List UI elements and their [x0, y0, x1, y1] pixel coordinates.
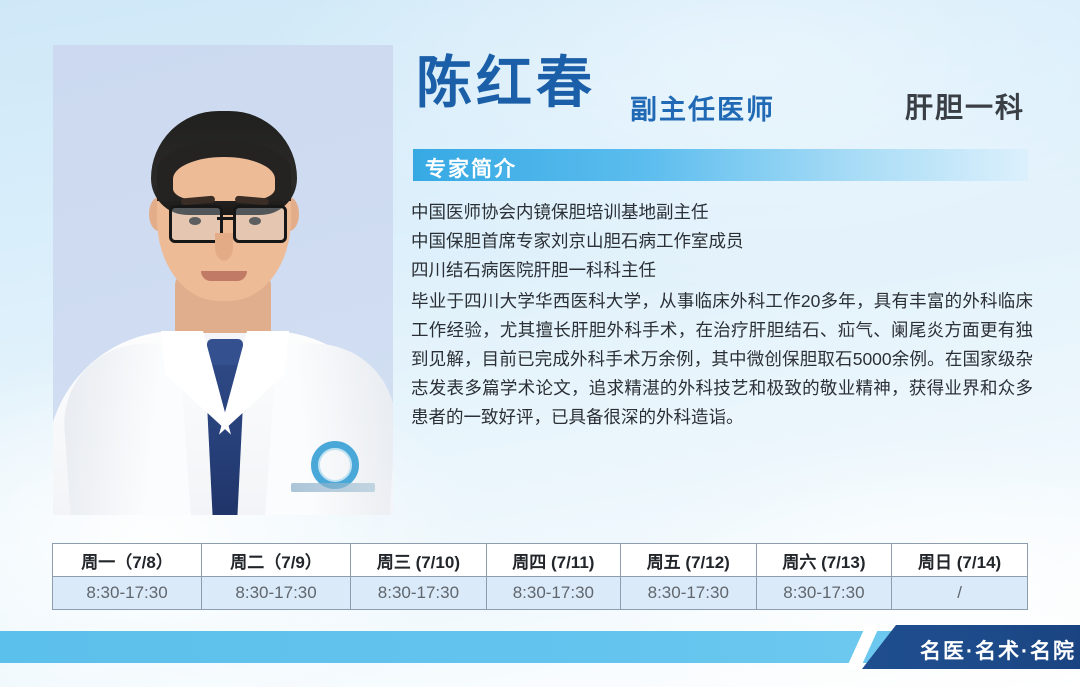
doctor-title: 副主任医师 — [630, 88, 775, 127]
schedule-day-cell: 周日 (7/14) — [892, 544, 1028, 577]
schedule-hours-cell: 8:30-17:30 — [53, 577, 202, 610]
schedule-hours-row: 8:30-17:30 8:30-17:30 8:30-17:30 8:30-17… — [53, 577, 1028, 610]
credential-line: 中国医师协会内镜保胆培训基地副主任 — [411, 198, 1033, 227]
credential-line: 中国保胆首席专家刘京山胆石病工作室成员 — [411, 227, 1033, 256]
bio-section-header-label: 专家简介 — [425, 153, 517, 183]
schedule-day-cell: 周二（7/9） — [202, 544, 351, 577]
clinic-schedule-table: 周一（7/8） 周二（7/9） 周三 (7/10) 周四 (7/11) 周五 (… — [52, 543, 1028, 610]
doctor-department: 肝胆一科 — [905, 86, 1025, 126]
nose — [215, 233, 233, 261]
glasses-bridge — [217, 217, 233, 220]
schedule-header-row: 周一（7/8） 周二（7/9） 周三 (7/10) 周四 (7/11) 周五 (… — [53, 544, 1028, 577]
schedule-hours-cell: 8:30-17:30 — [202, 577, 351, 610]
credential-line: 四川结石病医院肝胆一科科主任 — [411, 256, 1033, 285]
bio-section-header: 专家简介 — [413, 149, 1028, 181]
schedule-day-cell: 周四 (7/11) — [486, 544, 620, 577]
schedule-day-cell: 周六 (7/13) — [756, 544, 892, 577]
bio-text-block: 中国医师协会内镜保胆培训基地副主任 中国保胆首席专家刘京山胆石病工作室成员 四川… — [411, 198, 1033, 432]
schedule-hours-cell: 8:30-17:30 — [486, 577, 620, 610]
hospital-logo-text — [291, 483, 375, 492]
schedule-day-cell: 周三 (7/10) — [351, 544, 487, 577]
schedule-hours-cell: / — [892, 577, 1028, 610]
schedule-hours-cell: 8:30-17:30 — [620, 577, 756, 610]
schedule-hours-cell: 8:30-17:30 — [756, 577, 892, 610]
forehead — [173, 157, 275, 201]
schedule-day-cell: 周一（7/8） — [53, 544, 202, 577]
schedule-hours-cell: 8:30-17:30 — [351, 577, 487, 610]
lens-right — [233, 205, 287, 243]
footer-slogan-label: 名医·名术·名院 — [920, 635, 1076, 665]
doctor-profile-card: 陈红春 副主任医师 肝胆一科 专家简介 中国医师协会内镜保胆培训基地副主任 中国… — [0, 0, 1080, 687]
doctor-portrait-photo — [53, 45, 393, 515]
mouth — [201, 271, 247, 281]
bio-paragraph: 毕业于四川大学华西医科大学，从事临床外科工作20多年，具有丰富的外科临床工作经验… — [411, 287, 1033, 432]
schedule-day-cell: 周五 (7/12) — [620, 544, 756, 577]
necktie-knot — [207, 339, 243, 365]
doctor-name: 陈红春 — [416, 55, 596, 111]
hospital-logo-icon — [311, 441, 359, 489]
footer-slogan-banner: 名医·名术·名院 — [862, 625, 1080, 669]
